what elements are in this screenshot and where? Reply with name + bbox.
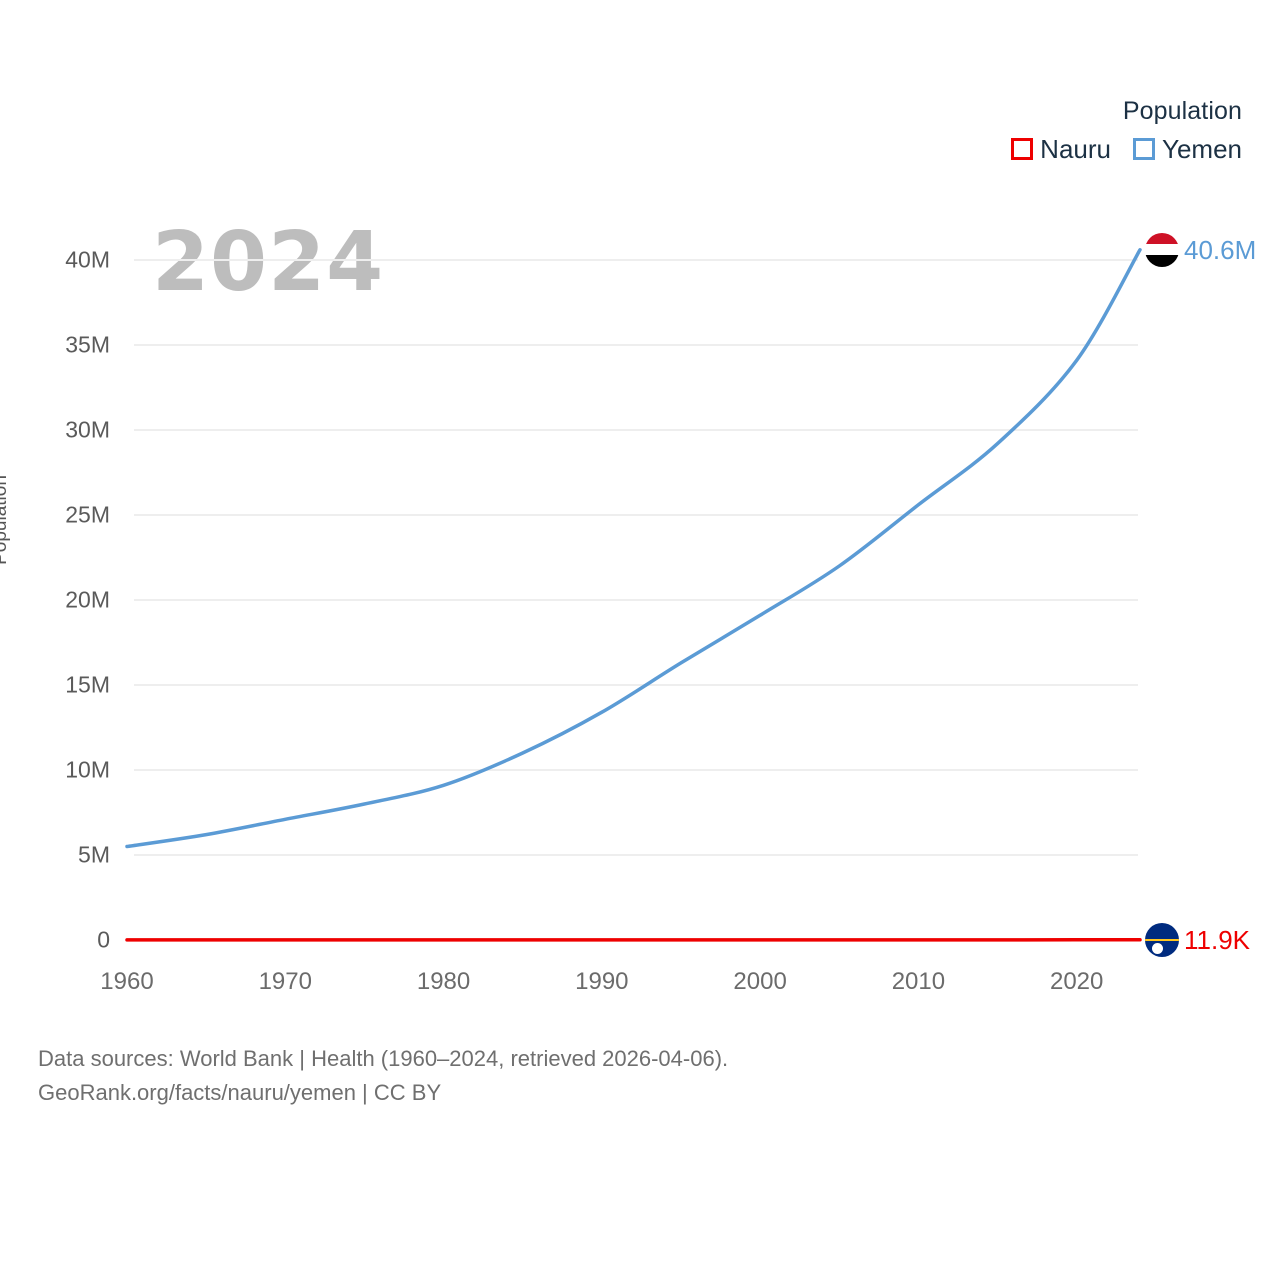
y-tick-label: 30M — [20, 417, 110, 444]
population-line-chart: Population Nauru Yemen 2024 Population 0… — [0, 0, 1280, 1280]
x-tick-label: 1990 — [542, 968, 662, 996]
nauru-endpoint[interactable]: 11.9K — [1145, 923, 1250, 957]
x-tick-label: 1960 — [67, 968, 187, 996]
nauru-endpoint-value: 11.9K — [1184, 927, 1250, 953]
yemen-endpoint[interactable]: 40.6M — [1145, 233, 1256, 267]
x-tick-label: 1980 — [384, 968, 504, 996]
x-tick-label: 2020 — [1017, 968, 1137, 996]
x-tick-label: 2010 — [858, 968, 978, 996]
chart-footer: Data sources: World Bank | Health (1960–… — [38, 1042, 728, 1110]
y-tick-label: 5M — [20, 842, 110, 869]
y-tick-label: 0 — [20, 927, 110, 954]
y-tick-label: 10M — [20, 757, 110, 784]
series-line-yemen — [127, 250, 1140, 847]
y-tick-label: 40M — [20, 247, 110, 274]
x-tick-label: 2000 — [700, 968, 820, 996]
y-tick-label: 35M — [20, 332, 110, 359]
nauru-flag-icon — [1145, 923, 1179, 957]
footer-attribution: GeoRank.org/facts/nauru/yemen | CC BY — [38, 1076, 728, 1110]
y-tick-label: 20M — [20, 587, 110, 614]
yemen-endpoint-value: 40.6M — [1184, 237, 1256, 263]
x-tick-label: 1970 — [225, 968, 345, 996]
y-tick-label: 25M — [20, 502, 110, 529]
y-tick-label: 15M — [20, 672, 110, 699]
yemen-flag-icon — [1145, 233, 1179, 267]
footer-data-sources: Data sources: World Bank | Health (1960–… — [38, 1042, 728, 1076]
